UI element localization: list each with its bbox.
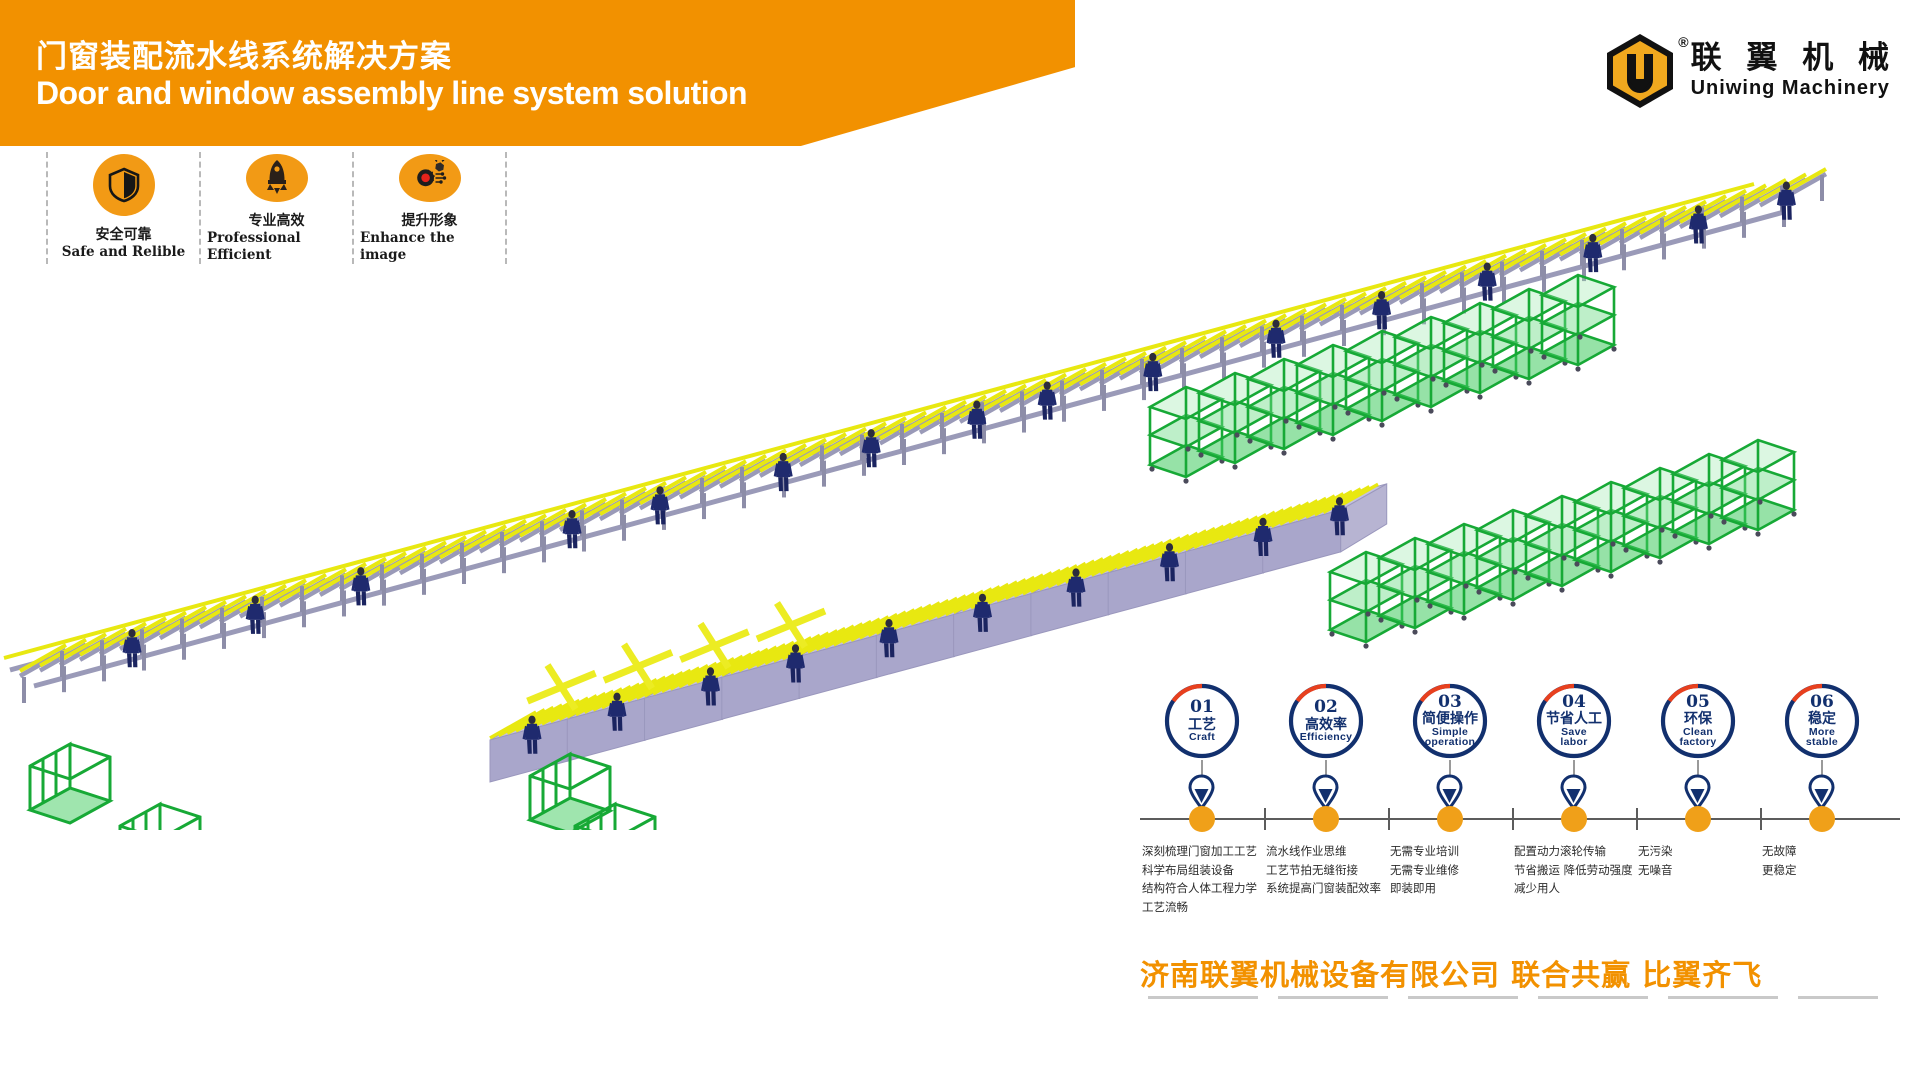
timeline-label-en: Craft: [1189, 732, 1215, 743]
timeline-desc-line: 深刻梳理门窗加工工艺: [1142, 842, 1264, 861]
timeline-desc-line: 无污染: [1638, 842, 1760, 861]
map-pin-icon: [1188, 774, 1215, 810]
material-cart: [1345, 331, 1420, 428]
timeline-number: 06: [1810, 694, 1834, 711]
timeline-number: 02: [1314, 699, 1338, 716]
timeline-badge[interactable]: 06 稳定 Morestable: [1783, 682, 1861, 760]
timeline-badge[interactable]: 04 节省人工 Savelabor: [1535, 682, 1613, 760]
timeline-item-04[interactable]: 04 节省人工 Savelabor 配置动力滚轮传输节省搬运 降低劳动强度减少用…: [1512, 682, 1636, 760]
timeline-dot: [1437, 806, 1463, 832]
material-cart: [1329, 552, 1404, 649]
material-cart: [1427, 524, 1502, 621]
timeline-label-en: Cleanfactory: [1679, 727, 1716, 748]
timeline-badge[interactable]: 05 环保 Cleanfactory: [1659, 682, 1737, 760]
material-cart: [1149, 387, 1224, 484]
material-cart: [1443, 303, 1518, 400]
registered-trademark-icon: ®: [1678, 34, 1688, 50]
page-title-cn: 门窗装配流水线系统解决方案: [36, 31, 452, 76]
timeline-label-cn: 简便操作: [1422, 712, 1478, 726]
timeline-description: 无故障更稳定: [1762, 842, 1884, 879]
timeline-axis: [1140, 818, 1900, 820]
timeline-label-cn: 环保: [1684, 712, 1712, 726]
timeline-number: 03: [1438, 694, 1462, 711]
timeline-tick: [1636, 808, 1638, 830]
map-pin-icon: [1312, 774, 1339, 810]
material-cart: [1541, 275, 1616, 372]
timeline-desc-line: 无需专业培训: [1390, 842, 1512, 861]
timeline-badge[interactable]: 01 工艺 Craft: [1163, 682, 1241, 760]
material-cart: [1296, 345, 1371, 442]
material-cart: [1721, 440, 1796, 537]
end-rack: [120, 804, 200, 830]
timeline-desc-line: 科学布局组装设备: [1142, 861, 1264, 880]
logo-name-cn: 联 翼 机 械: [1691, 42, 1896, 75]
timeline-item-02[interactable]: 02 高效率 Efficiency 流水线作业思维工艺节拍无缝衔接系统提高门窗装…: [1264, 682, 1388, 760]
material-cart: [1378, 538, 1453, 635]
timeline-desc-line: 即装即用: [1390, 879, 1512, 898]
timeline-label-cn: 工艺: [1188, 718, 1216, 732]
timeline-desc-line: 无需专业维修: [1390, 861, 1512, 880]
material-cart: [1198, 373, 1273, 470]
timeline-label-en: Simpleoperation: [1425, 727, 1476, 748]
timeline-label-cn: 高效率: [1305, 718, 1347, 732]
map-pin-icon: [1436, 774, 1463, 810]
timeline-label-en: Savelabor: [1560, 727, 1587, 748]
page-title-en: Door and window assembly line system sol…: [36, 75, 747, 112]
material-cart: [1247, 359, 1322, 456]
timeline-description: 配置动力滚轮传输节省搬运 降低劳动强度减少用人: [1514, 842, 1636, 898]
timeline-description: 无需专业培训无需专业维修即装即用: [1390, 842, 1512, 898]
timeline-description: 流水线作业思维工艺节拍无缝衔接系统提高门窗装配效率: [1266, 842, 1388, 898]
timeline-item-03[interactable]: 03 简便操作 Simpleoperation 无需专业培训无需专业维修即装即用: [1388, 682, 1512, 760]
map-pin-icon: [1684, 774, 1711, 810]
material-cart: [1623, 468, 1698, 565]
timeline-tick: [1388, 808, 1390, 830]
timeline-desc-line: 减少用人: [1514, 879, 1636, 898]
timeline-dot: [1561, 806, 1587, 832]
footer-company-slogan: 济南联翼机械设备有限公司 联合共赢 比翼齐飞: [1140, 952, 1920, 994]
map-pin-icon: [1560, 774, 1587, 810]
timeline-tick: [1760, 808, 1762, 830]
timeline-dot: [1313, 806, 1339, 832]
company-logo: ® 联 翼 机 械 Uniwing Machinery: [1603, 32, 1896, 110]
timeline-badge[interactable]: 03 简便操作 Simpleoperation: [1411, 682, 1489, 760]
timeline-dot: [1189, 806, 1215, 832]
timeline-desc-line: 流水线作业思维: [1266, 842, 1388, 861]
material-cart: [1394, 317, 1469, 414]
timeline-desc-line: 工艺流畅: [1142, 898, 1264, 917]
timeline-desc-line: 无噪音: [1638, 861, 1760, 880]
map-pin-icon: [1808, 774, 1835, 810]
timeline-desc-line: 结构符合人体工程力学: [1142, 879, 1264, 898]
timeline-label-en: Efficiency: [1300, 732, 1353, 743]
material-cart: [1476, 510, 1551, 607]
timeline-label-cn: 稳定: [1808, 712, 1836, 726]
timeline-desc-line: 工艺节拍无缝衔接: [1266, 861, 1388, 880]
timeline-description: 深刻梳理门窗加工工艺科学布局组装设备结构符合人体工程力学工艺流畅: [1142, 842, 1264, 917]
timeline-description: 无污染无噪音: [1638, 842, 1760, 879]
timeline-desc-line: 配置动力滚轮传输: [1514, 842, 1636, 861]
timeline-badge[interactable]: 02 高效率 Efficiency: [1287, 682, 1365, 760]
timeline-item-01[interactable]: 01 工艺 Craft 深刻梳理门窗加工工艺科学布局组装设备结构符合人体工程力学…: [1140, 682, 1264, 760]
timeline-number: 01: [1190, 699, 1214, 716]
timeline-label-en: Morestable: [1806, 727, 1838, 748]
timeline-item-05[interactable]: 05 环保 Cleanfactory 无污染无噪音: [1636, 682, 1760, 760]
hexagon-u-logo-icon: ®: [1603, 32, 1677, 110]
timeline-desc-line: 节省搬运 降低劳动强度: [1514, 861, 1636, 880]
timeline-tick: [1264, 808, 1266, 830]
timeline-number: 04: [1562, 694, 1586, 711]
material-cart: [1492, 289, 1567, 386]
timeline-desc-line: 系统提高门窗装配效率: [1266, 879, 1388, 898]
timeline-desc-line: 更稳定: [1762, 861, 1884, 880]
timeline-desc-line: 无故障: [1762, 842, 1884, 861]
timeline-label-cn: 节省人工: [1546, 712, 1602, 726]
material-cart: [1672, 454, 1747, 551]
material-cart: [1525, 496, 1600, 593]
timeline-tick: [1512, 808, 1514, 830]
end-rack: [30, 744, 110, 823]
logo-name-en: Uniwing Machinery: [1691, 77, 1890, 100]
timeline-item-06[interactable]: 06 稳定 Morestable 无故障更稳定: [1760, 682, 1884, 760]
footer-divider: [1148, 996, 1878, 999]
benefits-timeline: 01 工艺 Craft 深刻梳理门窗加工工艺科学布局组装设备结构符合人体工程力学…: [1140, 682, 1900, 952]
timeline-dot: [1809, 806, 1835, 832]
timeline-number: 05: [1686, 694, 1710, 711]
company-footer: 济南联翼机械设备有限公司 联合共赢 比翼齐飞: [1140, 952, 1920, 1012]
timeline-dot: [1685, 806, 1711, 832]
material-cart: [1574, 482, 1649, 579]
